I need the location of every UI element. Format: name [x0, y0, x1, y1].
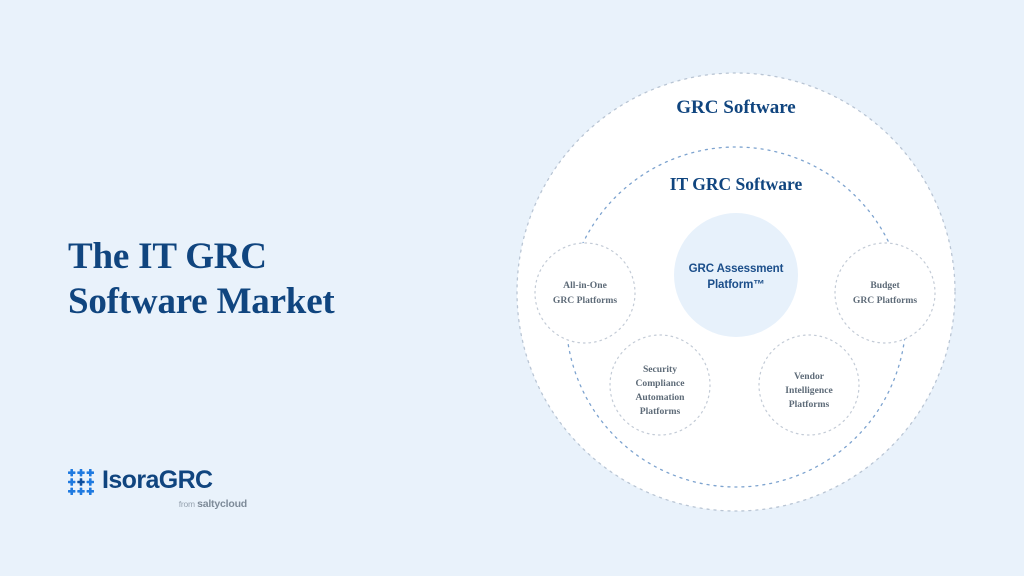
satellite-circle-security-compliance-automation: [610, 335, 710, 435]
isora-grc-dot-grid-mark: [68, 469, 94, 495]
logo-wordmark: IsoraGRC: [102, 466, 213, 494]
satellite-circle-budget: [835, 243, 935, 343]
satellite-circle-vendor-intelligence: [759, 335, 859, 435]
logo-tagline-from: from: [179, 499, 197, 509]
page-title: The IT GRC Software Market: [68, 234, 428, 324]
grc-market-diagram: GRC Software IT GRC Software GRC Assessm…: [500, 50, 980, 540]
logo-tagline: from saltycloud: [122, 498, 247, 510]
brand-logo[interactable]: IsoraGRC from saltycloud: [68, 466, 268, 514]
logo-tagline-brand: saltycloud: [197, 498, 247, 510]
satellite-circle-all-in-one: [535, 243, 635, 343]
left-panel: The IT GRC Software Market IsoraGRC: [0, 0, 470, 576]
core-circle-grc-assessment-platform: [674, 213, 798, 337]
